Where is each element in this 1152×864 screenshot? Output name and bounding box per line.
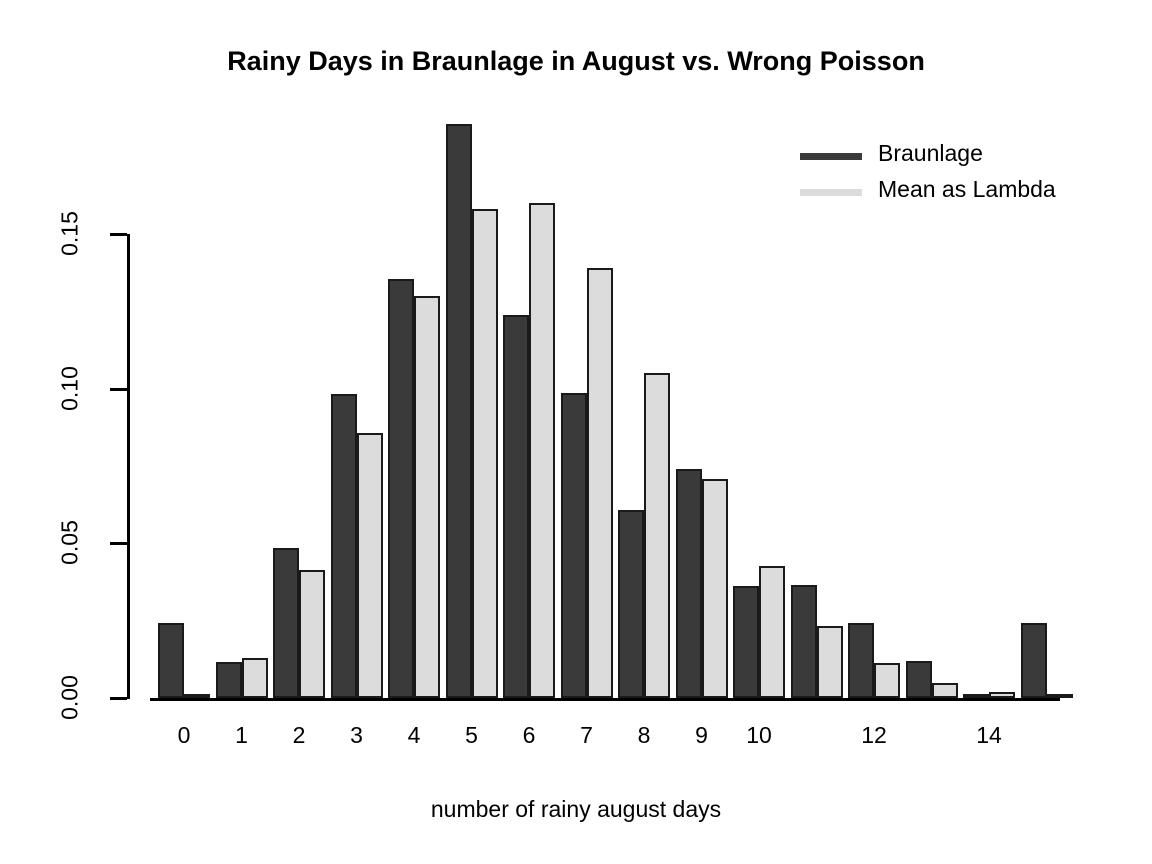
- x-tick-label-14: 14: [959, 722, 1019, 749]
- bar-mean-as-lambda-5: [472, 209, 498, 698]
- bar-mean-as-lambda-9: [702, 479, 728, 698]
- bar-braunlage-15: [1021, 623, 1047, 698]
- y-tick-mark: [110, 233, 127, 236]
- x-tick-label-1: 1: [212, 722, 272, 749]
- legend-swatch-icon: [800, 189, 862, 196]
- bar-mean-as-lambda-3: [357, 433, 383, 698]
- y-tick-label: 0.10: [57, 353, 84, 423]
- bar-braunlage-5: [446, 124, 472, 698]
- bar-braunlage-0: [158, 623, 184, 698]
- bar-braunlage-2: [273, 548, 299, 698]
- x-tick-label-3: 3: [327, 722, 387, 749]
- bar-mean-as-lambda-10: [759, 566, 785, 698]
- y-tick-label: 0.00: [57, 663, 84, 733]
- bar-mean-as-lambda-12: [874, 663, 900, 698]
- y-tick-mark: [110, 542, 127, 545]
- bar-mean-as-lambda-11: [817, 626, 843, 698]
- legend-swatch-icon: [800, 153, 862, 160]
- x-tick-label-8: 8: [614, 722, 674, 749]
- bar-braunlage-10: [733, 586, 759, 698]
- x-tick-label-2: 2: [269, 722, 329, 749]
- bar-mean-as-lambda-2: [299, 570, 325, 698]
- bar-braunlage-7: [561, 393, 587, 698]
- x-tick-label-5: 5: [442, 722, 502, 749]
- legend-item-mean-as-lambda: Mean as Lambda: [800, 176, 1100, 212]
- bar-mean-as-lambda-13: [932, 683, 958, 698]
- bar-braunlage-9: [676, 469, 702, 698]
- bar-braunlage-6: [503, 315, 529, 698]
- legend-item-braunlage: Braunlage: [800, 140, 1100, 176]
- bar-braunlage-4: [388, 279, 414, 698]
- legend-label: Braunlage: [878, 140, 983, 167]
- bar-mean-as-lambda-4: [414, 296, 440, 698]
- y-tick-label: 0.15: [57, 199, 84, 269]
- y-tick-mark: [110, 388, 127, 391]
- bar-braunlage-8: [618, 510, 644, 698]
- y-axis-line: [127, 234, 130, 699]
- x-tick-label-9: 9: [672, 722, 732, 749]
- bar-mean-as-lambda-8: [644, 373, 670, 698]
- bar-braunlage-11: [791, 585, 817, 698]
- bar-braunlage-1: [216, 662, 242, 698]
- x-axis-label: number of rainy august days: [0, 796, 1152, 823]
- bar-mean-as-lambda-6: [529, 203, 555, 698]
- x-tick-label-7: 7: [557, 722, 617, 749]
- y-tick-mark: [110, 697, 127, 700]
- bar-mean-as-lambda-1: [242, 658, 268, 698]
- x-tick-label-6: 6: [499, 722, 559, 749]
- bar-braunlage-13: [906, 661, 932, 698]
- bar-braunlage-12: [848, 623, 874, 698]
- y-tick-label: 0.05: [57, 508, 84, 578]
- x-tick-label-12: 12: [844, 722, 904, 749]
- x-tick-label-0: 0: [154, 722, 214, 749]
- bar-braunlage-3: [331, 394, 357, 698]
- chart-legend: BraunlageMean as Lambda: [800, 140, 1100, 212]
- x-tick-label-4: 4: [384, 722, 444, 749]
- bar-mean-as-lambda-7: [587, 268, 613, 698]
- legend-label: Mean as Lambda: [878, 176, 1056, 203]
- x-axis-line: [150, 698, 1060, 701]
- chart-canvas: Rainy Days in Braunlage in August vs. Wr…: [0, 0, 1152, 864]
- x-tick-label-10: 10: [729, 722, 789, 749]
